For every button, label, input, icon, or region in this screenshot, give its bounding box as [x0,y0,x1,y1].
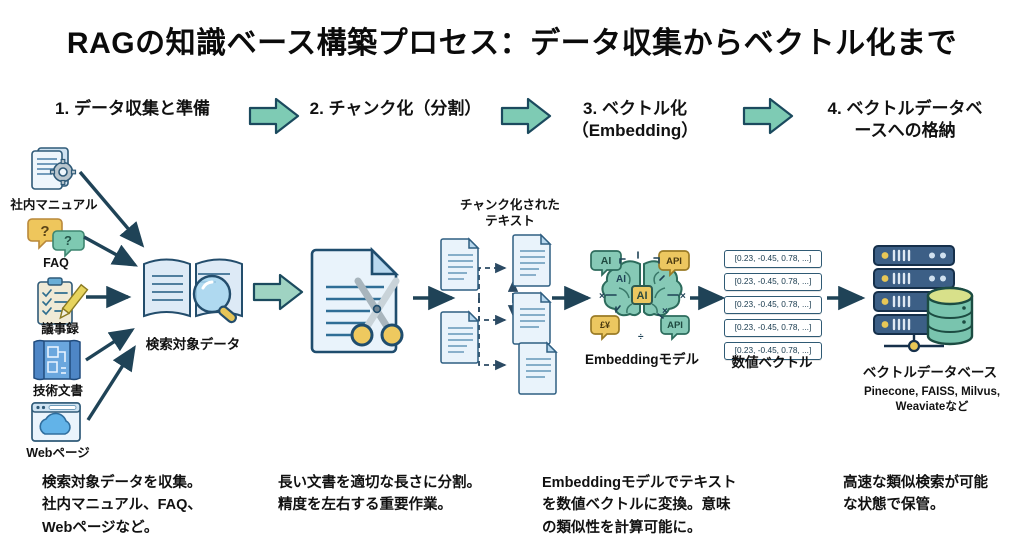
open-book-magnifier-icon [138,250,248,332]
description-line: 検索対象データを収集。 [42,472,272,494]
svg-text:×: × [662,306,668,317]
description-line: の類似性を計算可能に。 [542,517,792,539]
description-line: 長い文書を適切な長さに分割。 [278,472,528,494]
chunked-text-title-line2: テキスト [432,213,588,229]
description-step-3: Embeddingモデルでテキスト を数値ベクトルに変換。意味 の類似性を計算可… [542,472,792,539]
chunked-text-title: チャンク化された テキスト [432,197,588,230]
document-scissors-icon [308,245,418,355]
description-line: を数値ベクトルに変換。意味 [542,494,792,516]
db-examples-line1: Pinecone, FAISS, Milvus, [845,385,1019,400]
svg-text:AI: AI [601,255,612,267]
embedding-model: AI AI API £¥ API AI × × × ÷ [592,244,692,348]
svg-text:AI: AI [637,290,648,302]
vector-database-examples: Pinecone, FAISS, Milvus, Weaviateなど [845,385,1019,415]
step-label-3-line2: （Embedding） [545,120,725,142]
numeric-vectors-label: 数値ベクトル [712,355,832,372]
vector-chip: [0.23, -0.45, 0.78, ...] [724,296,822,314]
description-line: Embeddingモデルでテキスト [542,472,792,494]
document-scissors [308,245,418,355]
step-label-3-line1: 3. ベクトル化 [545,98,725,120]
description-line: 社内マニュアル、FAQ、 [42,494,272,516]
vector-database [866,242,982,364]
page-title: RAGの知識ベース構築プロセス：データ収集からベクトル化まで [0,18,1024,62]
documents-gear-icon [22,145,84,195]
svg-text:×: × [680,291,686,302]
step-label-1: 1. データ収集と準備 [20,98,245,120]
svg-text:API: API [667,320,683,331]
step-label-4-line2: ースへの格納 [800,120,1010,142]
chunk-docs-group [440,236,590,396]
description-line: 高速な類似検索が可能 [843,472,1024,494]
vector-database-label: ベクトルデータベース [845,365,1015,382]
numeric-vectors-group: [0.23, -0.45, 0.78, ...] [0.23, -0.45, 0… [724,250,822,360]
chunked-text-title-line1: チャンク化された [432,197,588,213]
chunk-doc [513,235,550,286]
embedding-model-label: Embeddingモデル [568,352,716,369]
description-step-1: 検索対象データを収集。 社内マニュアル、FAQ、 Webページなど。 [42,472,272,539]
vector-chip: [0.23, -0.45, 0.78, ...] [724,250,822,268]
step-arrow-3-to-4 [742,96,794,136]
source-label-webpage: Webページ [8,442,108,461]
stage1-to-stage2-arrow [252,272,304,312]
step-label-2: 2. チャンク化（分割） [288,98,503,120]
source-item-manual [22,145,84,195]
source-label-manual: 社内マニュアル [0,194,108,213]
svg-text:?: ? [64,233,72,248]
svg-text:÷: ÷ [638,332,644,343]
search-target-label: 検索対象データ [128,337,258,354]
description-step-2: 長い文書を適切な長さに分割。 精度を左右する重要作業。 [278,472,528,517]
description-line: Webページなど。 [42,517,272,539]
db-examples-line2: Weaviateなど [845,400,1019,415]
description-line: 精度を左右する重要作業。 [278,494,528,516]
source-label-minutes: 議事録 [10,318,110,337]
chunk-doc [513,293,550,344]
chunk-doc [519,343,556,394]
source-item-techdoc [28,338,86,382]
speech-bubbles-question-icon: ? ? [28,215,90,257]
source-item-webpage [28,400,86,444]
blueprint-icon [28,338,86,382]
chunk-doc [441,312,478,363]
step-label-4-line1: 4. ベクトルデータベ [800,98,1010,120]
svg-text:£¥: £¥ [600,320,610,330]
search-target-data [138,250,248,332]
description-line: な状態で保管。 [843,494,1024,516]
vector-chip: [0.23, -0.45, 0.78, ...] [724,319,822,337]
svg-text:×: × [599,291,605,302]
step-label-4: 4. ベクトルデータベ ースへの格納 [800,98,1010,142]
ai-brain-icon: AI AI API £¥ API AI × × × ÷ [592,244,692,348]
source-label-faq: FAQ [6,256,106,270]
server-database-icon [866,242,982,364]
vector-chip: [0.23, -0.45, 0.78, ...] [724,273,822,291]
description-step-4: 高速な類似検索が可能 な状態で保管。 [843,472,1024,517]
svg-text:API: API [666,256,682,267]
step-label-3: 3. ベクトル化 （Embedding） [545,98,725,142]
chunk-doc [441,239,478,290]
source-item-faq: ? ? [28,215,90,257]
source-label-techdoc: 技術文書 [8,380,108,399]
browser-cloud-icon [28,400,86,444]
svg-text:?: ? [40,223,49,240]
svg-text:AI: AI [616,274,626,285]
